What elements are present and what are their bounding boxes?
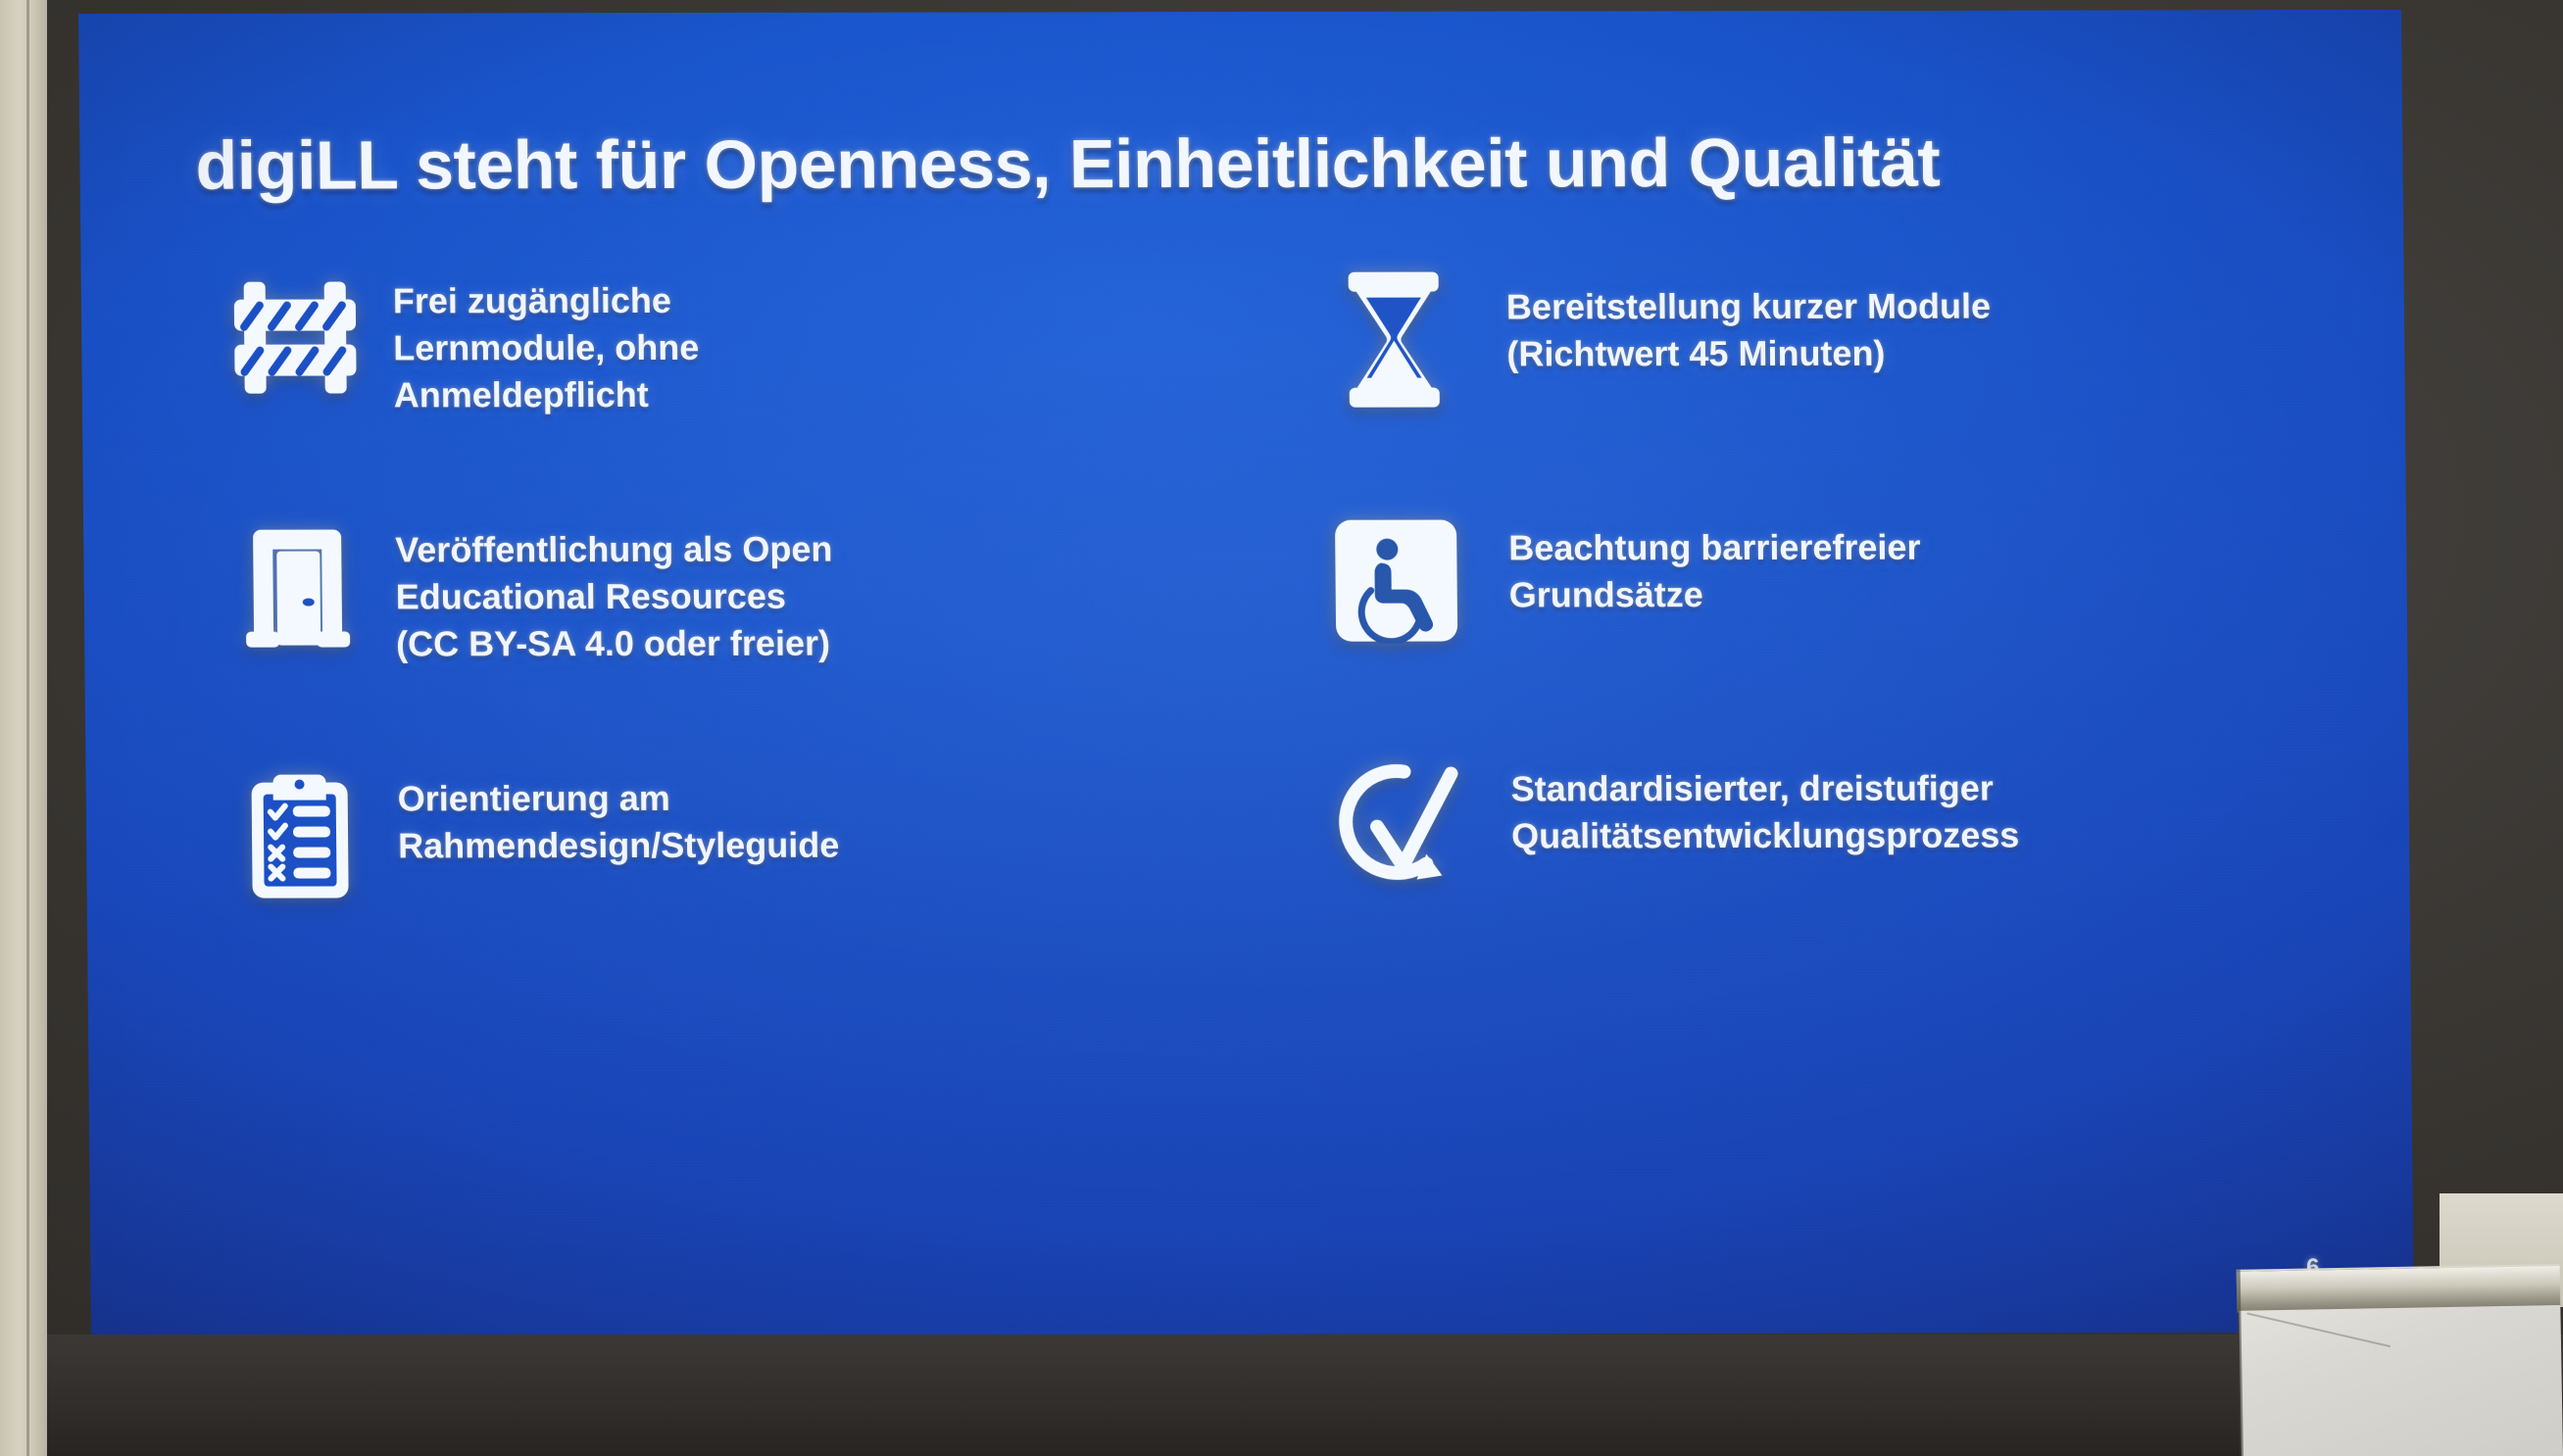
open-door-icon — [199, 512, 396, 659]
feature-columns: Frei zugängliche Lernmodule, ohne Anmeld… — [196, 255, 2320, 927]
left-column: Frei zugängliche Lernmodule, ohne Anmeld… — [196, 257, 1236, 927]
feature-item: Beachtung barrierefreier Grundsätze — [1283, 506, 2318, 672]
feature-line: (Richtwert 45 Minuten) — [1506, 329, 2314, 377]
wall-left-strip — [0, 0, 47, 1456]
hourglass-icon — [1281, 266, 1507, 413]
feature-text: Orientierung am Rahmendesign/Styleguide — [397, 760, 1235, 869]
feature-line: Frei zugängliche — [393, 276, 1230, 324]
feature-item: Veröffentlichung als Open Educational Re… — [199, 511, 1234, 678]
feature-text: Veröffentlichung als Open Educational Re… — [395, 511, 1234, 667]
slide-title: digiLL steht für Openness, Einheitlichke… — [195, 125, 2254, 202]
feature-line: Beachtung barrierefreier — [1508, 523, 2316, 571]
slide-content: digiLL steht für Openness, Einheitlichke… — [78, 10, 2414, 1336]
feature-line: Lernmodule, ohne — [393, 323, 1230, 371]
feature-line: Rahmendesign/Styleguide — [398, 821, 1235, 869]
circular-arrow-check-icon — [1285, 748, 1511, 895]
wall-seam-line — [26, 0, 29, 1456]
photo-scene: digiLL steht für Openness, Einheitlichke… — [0, 0, 2563, 1456]
wheelchair-accessibility-icon — [1283, 507, 1509, 654]
feature-line: Orientierung am — [397, 774, 1234, 822]
feature-line: Qualitätsentwicklungsprozess — [1511, 811, 2319, 859]
feature-line: (CC BY-SA 4.0 oder freier) — [396, 619, 1233, 667]
right-column: Bereitstellung kurzer Module (Richtwert … — [1280, 255, 2320, 925]
feature-text: Bereitstellung kurzer Module (Richtwert … — [1506, 265, 2315, 377]
flipchart-paper — [2239, 1305, 2563, 1456]
feature-line: Educational Resources — [395, 572, 1232, 620]
feature-line: Anmeldepflicht — [394, 370, 1231, 418]
feature-text: Beachtung barrierefreier Grundsätze — [1508, 506, 2317, 618]
feature-item: Standardisierter, dreistufiger Qualitäts… — [1285, 747, 2320, 913]
projected-slide: digiLL steht für Openness, Einheitlichke… — [78, 10, 2414, 1336]
flipchart-foreground — [2237, 1264, 2563, 1456]
feature-item: Bereitstellung kurzer Module (Richtwert … — [1281, 265, 2316, 431]
road-barrier-icon — [196, 264, 393, 411]
clipboard-checklist-icon — [201, 761, 398, 908]
feature-text: Standardisierter, dreistufiger Qualitäts… — [1510, 747, 2319, 859]
feature-item: Frei zugängliche Lernmodule, ohne Anmeld… — [196, 263, 1231, 429]
floor-band — [47, 1335, 2563, 1456]
feature-text: Frei zugängliche Lernmodule, ohne Anmeld… — [392, 263, 1231, 418]
feature-line: Bereitstellung kurzer Module — [1506, 282, 2314, 330]
feature-line: Veröffentlichung als Open — [395, 525, 1232, 573]
feature-item: Orientierung am Rahmendesign/Styleguide — [201, 760, 1236, 927]
feature-line: Standardisierter, dreistufiger — [1510, 764, 2318, 812]
feature-line: Grundsätze — [1509, 570, 2317, 618]
